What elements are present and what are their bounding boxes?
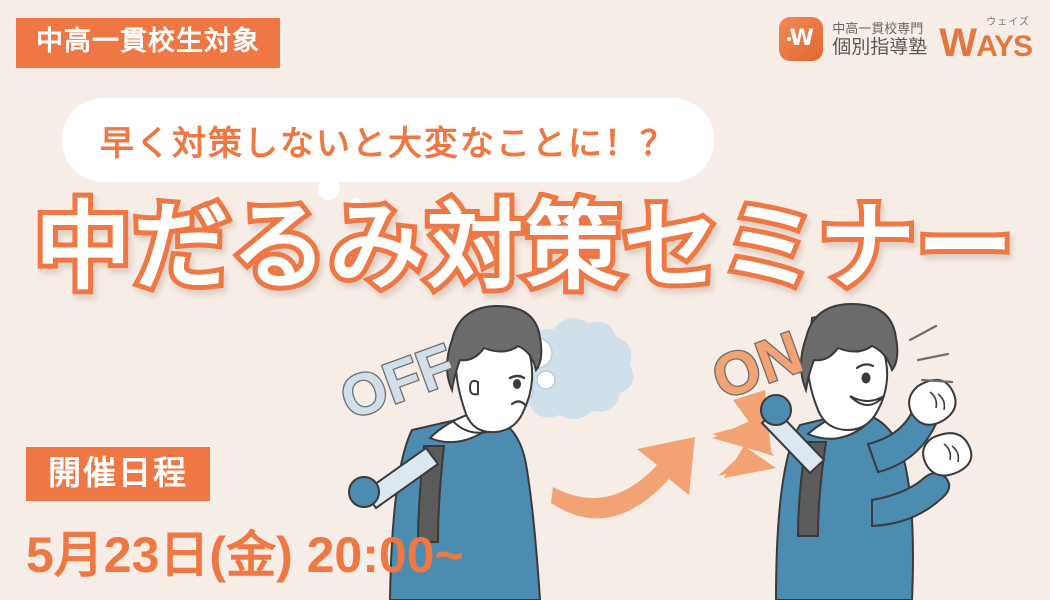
target-audience-badge: 中高一貫校生対象 [16, 18, 280, 68]
logo-japanese-text: 中高一貫校専門 個別指導塾 [832, 22, 927, 57]
speech-bubble-text: 早く対策しないと大変なことに！？ [100, 116, 676, 165]
seminar-banner: OFF [0, 0, 1050, 600]
schedule-badge: 開催日程 [26, 447, 210, 501]
schedule-date-text: 5月23日(金) 20:00~ [26, 528, 464, 583]
motivated-student-figure: ON [704, 304, 972, 600]
logo-brandmark: ウェイズ WAYS [939, 16, 1032, 62]
logo-brand-rest: AYS [976, 30, 1032, 63]
logo-brand-first: W [939, 21, 976, 65]
sigh-cloud-icon [514, 318, 634, 419]
logo-tagline-line1: 中高一貫校専門 [832, 22, 927, 35]
logo-mark-glyph: W [779, 26, 823, 51]
main-title: 中だるみ対策セミナー [0, 198, 1050, 299]
speech-bubble: 早く対策しないと大変なことに！？ [62, 98, 714, 182]
off-label: OFF [332, 331, 463, 432]
logo-brand-text: WAYS [939, 24, 1032, 62]
logo-tagline-line2: 個別指導塾 [832, 38, 927, 57]
ways-logo[interactable]: W 中高一貫校専門 個別指導塾 ウェイズ WAYS [779, 16, 1032, 62]
logo-kana-reading: ウェイズ [986, 13, 1030, 28]
on-label: ON [704, 318, 811, 412]
ways-w-mark-icon: W [779, 17, 823, 61]
curved-arrow-icon [551, 405, 774, 518]
